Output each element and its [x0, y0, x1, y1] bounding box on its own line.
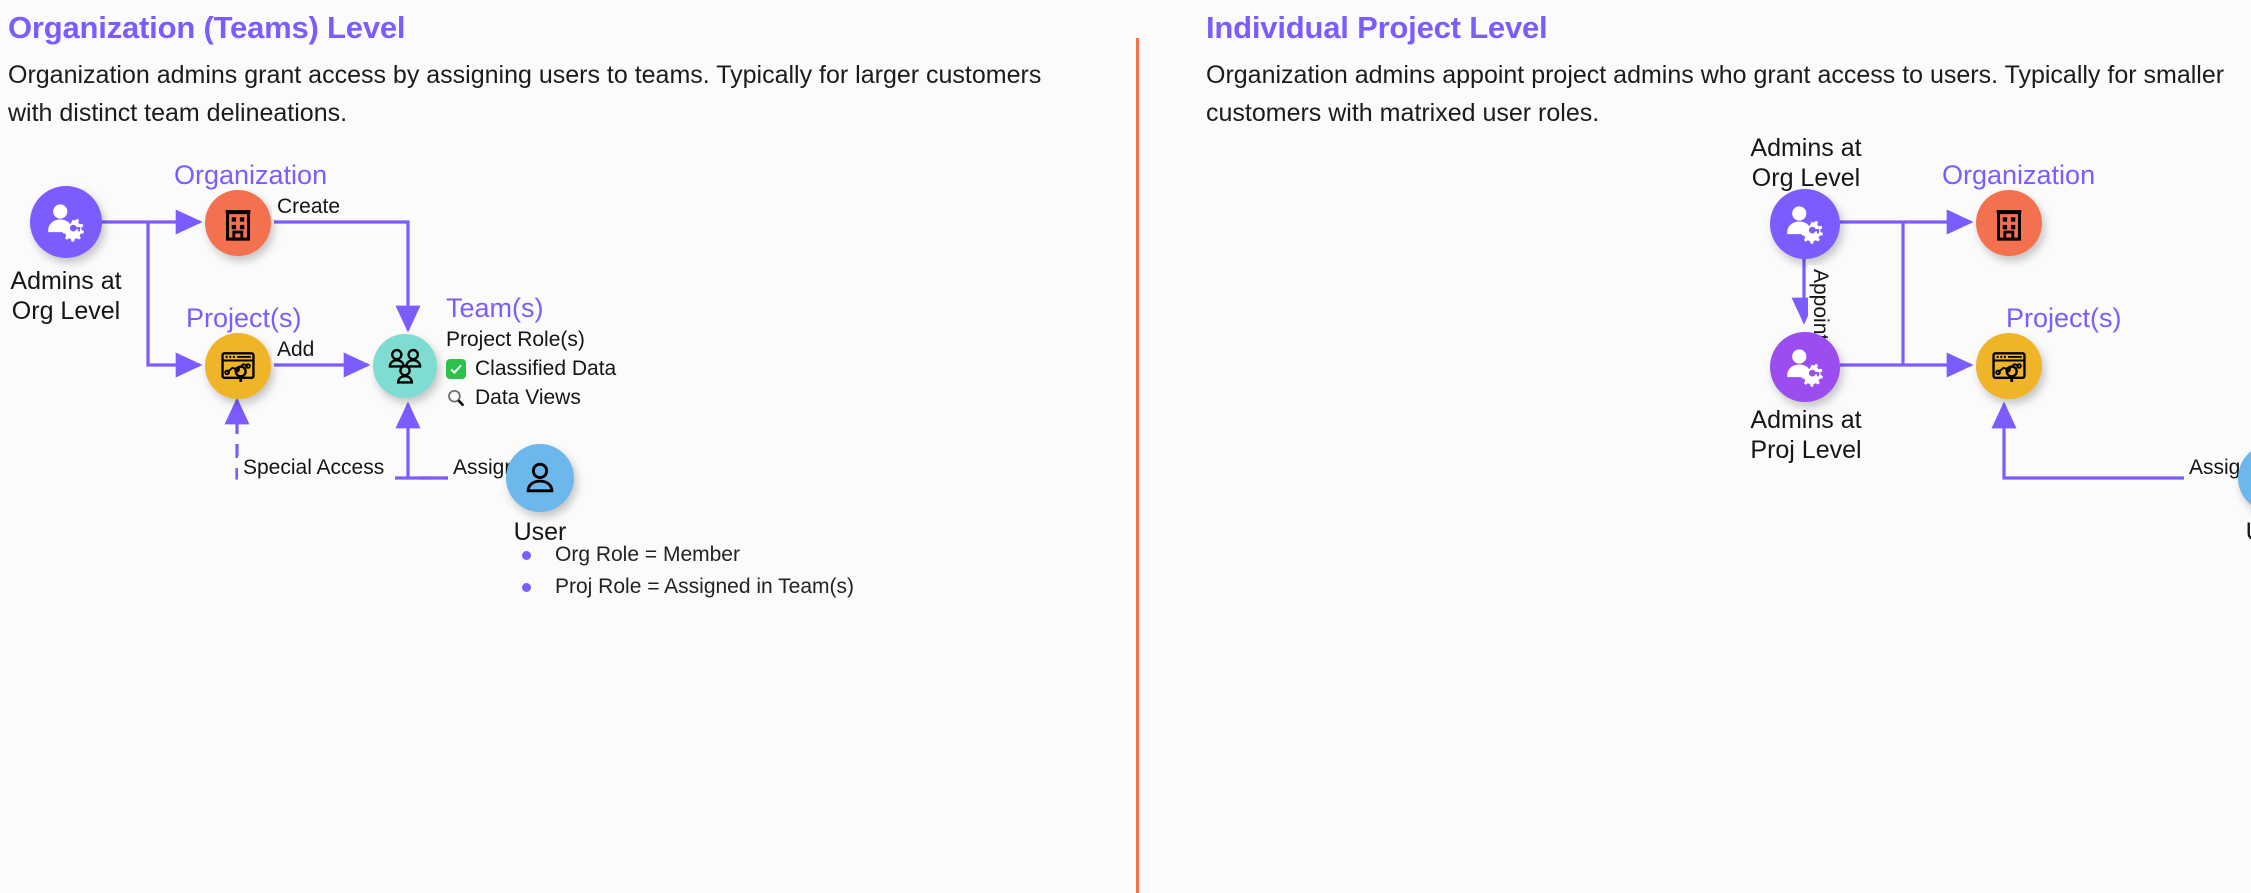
- project-roles-title-left: Project Role(s): [446, 328, 616, 352]
- node-admins-org-level-left[interactable]: [30, 186, 102, 258]
- admin-key-gear-icon: [1782, 344, 1828, 390]
- project-roles-left: Project Role(s) Classified Data Data Vie…: [446, 328, 616, 410]
- connector-lines-right: [1136, 0, 2251, 893]
- node-teams-left[interactable]: [373, 334, 437, 398]
- category-label-organization-left: Organization: [174, 160, 327, 191]
- connector-lines-left: [0, 0, 1136, 893]
- edge-label-add-left: Add: [272, 338, 319, 362]
- bullet-dot-icon: [522, 551, 531, 560]
- admin-key-gear-icon: [1782, 201, 1828, 247]
- building-icon: [219, 204, 257, 242]
- bullet-dot-icon: [522, 583, 531, 592]
- category-label-projects-right: Project(s): [2006, 303, 2122, 334]
- edge-label-special-access-left: Special Access: [238, 456, 389, 480]
- role-item-data-views-left: Data Views: [446, 386, 616, 410]
- project-analytics-icon: [218, 346, 258, 386]
- panel-organization-teams-level: Organization (Teams) Level Organization …: [0, 0, 1136, 893]
- role-label-data-views-left: Data Views: [475, 386, 581, 410]
- node-admins-org-level-right[interactable]: [1770, 189, 1840, 259]
- category-label-projects-left: Project(s): [186, 303, 302, 334]
- bullet-proj-role-left: Proj Role = Assigned in Team(s): [522, 575, 854, 599]
- node-label-admins-proj-level-right: Admins at Proj Level: [1740, 405, 1872, 465]
- building-icon: [1990, 204, 2028, 242]
- magnifier-icon: [446, 388, 466, 408]
- node-label-admins-org-level-right: Admins at Org Level: [1742, 133, 1870, 193]
- node-label-admins-org-level-left: Admins at Org Level: [0, 266, 132, 326]
- green-check-icon: [446, 359, 466, 379]
- user-person-icon: [521, 459, 559, 497]
- node-user-left[interactable]: [506, 444, 574, 512]
- node-admins-proj-level-right[interactable]: [1770, 332, 1840, 402]
- panel-individual-project-level: Individual Project Level Organization ad…: [1136, 0, 2251, 893]
- category-label-teams-left: Team(s): [446, 293, 544, 324]
- diagram-right: Admins at Org Level Appoint: [1136, 0, 2251, 893]
- edge-label-create-left: Create: [272, 195, 345, 219]
- node-projects-right[interactable]: [1976, 333, 2042, 399]
- node-organization-left[interactable]: [205, 190, 271, 256]
- node-organization-right[interactable]: [1976, 190, 2042, 256]
- node-label-user-right: User: [2212, 517, 2251, 547]
- user-bullets-left: Org Role = Member Proj Role = Assigned i…: [522, 535, 854, 599]
- team-people-icon: [384, 345, 426, 387]
- node-projects-left[interactable]: [205, 333, 271, 399]
- role-label-classified-data-left: Classified Data: [475, 357, 616, 381]
- role-item-classified-data-left: Classified Data: [446, 357, 616, 381]
- diagram-left: Admins at Org Level Organization Create …: [0, 0, 1136, 893]
- admin-key-gear-icon: [43, 199, 89, 245]
- project-analytics-icon: [1989, 346, 2029, 386]
- category-label-organization-right: Organization: [1942, 160, 2095, 191]
- bullet-org-role-left: Org Role = Member: [522, 543, 854, 567]
